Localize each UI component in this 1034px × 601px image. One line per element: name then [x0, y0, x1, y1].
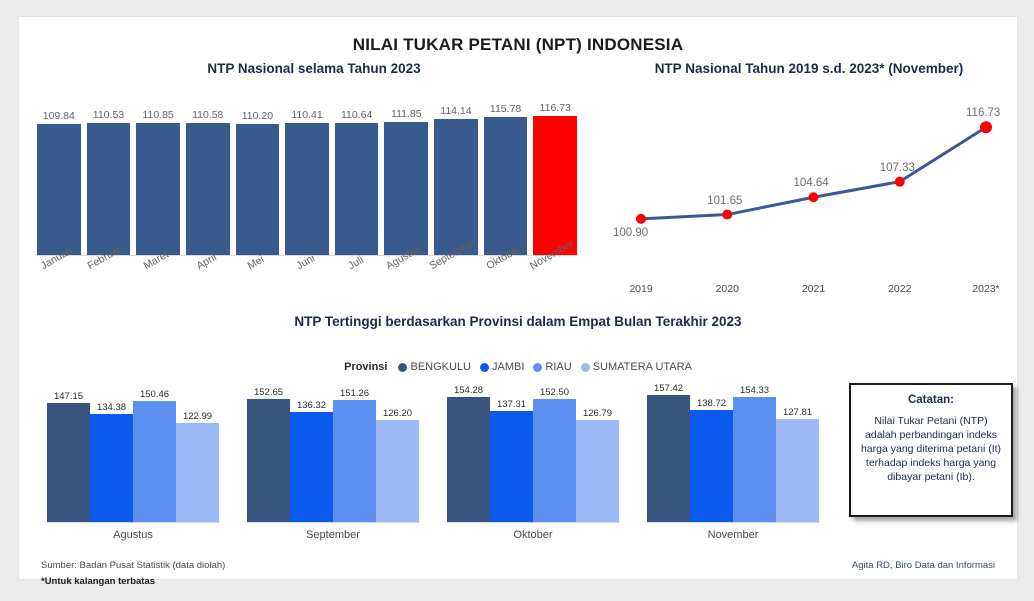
province-bar[interactable]	[290, 412, 333, 523]
line-x-label: 2019	[629, 283, 652, 295]
province-baseline	[47, 522, 219, 523]
line-data-label: 107.33	[880, 162, 915, 174]
monthly-bar[interactable]	[285, 123, 329, 255]
province-bar-column[interactable]: 137.31	[490, 383, 533, 523]
province-bar-column[interactable]: 152.50	[533, 383, 576, 523]
monthly-bar-x-label: Januari	[37, 257, 81, 307]
province-bar[interactable]	[133, 401, 176, 523]
province-x-label: November	[633, 529, 833, 541]
monthly-bar-x-label: Februari	[87, 257, 131, 307]
province-bar-value: 157.42	[654, 383, 683, 394]
monthly-bar-value: 110.53	[93, 109, 124, 121]
legend-title: Provinsi	[344, 361, 387, 373]
monthly-bar-x-label: Juli	[335, 257, 379, 307]
monthly-bar[interactable]	[236, 124, 280, 255]
monthly-bar-column[interactable]: 115.78	[484, 109, 528, 255]
province-bar-value: 154.33	[740, 385, 769, 396]
monthly-bar[interactable]	[186, 123, 230, 255]
note-box: Catatan: Nilai Tukar Petani (NTP) adalah…	[849, 383, 1013, 517]
province-bar-column[interactable]: 127.81	[776, 383, 819, 523]
monthly-bar-column[interactable]: 110.41	[285, 109, 329, 255]
province-baseline	[247, 522, 419, 523]
province-bar-value: 152.65	[254, 387, 283, 398]
province-bar[interactable]	[490, 411, 533, 523]
province-bar-value: 122.99	[183, 411, 212, 422]
chart-title-province-group: NTP Tertinggi berdasarkan Provinsi dalam…	[29, 314, 1007, 329]
province-bar-value: 138.72	[697, 398, 726, 409]
line-x-label: 2023*	[972, 283, 999, 295]
chart-title-yearly-line: NTP Nasional Tahun 2019 s.d. 2023* (Nove…	[609, 61, 1009, 76]
monthly-bar-x-label: Juni	[285, 257, 329, 307]
content-card: NILAI TUKAR PETANI (NPT) INDONESIA NTP N…	[18, 16, 1018, 580]
monthly-bar-x-label: Maret	[136, 257, 180, 307]
monthly-bar[interactable]	[335, 123, 379, 255]
line-data-point[interactable]	[636, 214, 646, 224]
monthly-bar[interactable]	[384, 122, 428, 255]
monthly-bar[interactable]	[37, 124, 81, 255]
province-bar-value: 136.32	[297, 400, 326, 411]
province-bar[interactable]	[176, 423, 219, 523]
monthly-bar-x-label-text: Mei	[246, 253, 267, 272]
province-bar-value: 152.50	[540, 387, 569, 398]
province-grouped-bar-chart: 147.15134.38150.46122.99Agustus152.65136…	[33, 383, 833, 553]
line-data-point[interactable]	[722, 210, 732, 220]
legend-dot-icon	[581, 363, 590, 372]
province-bar[interactable]	[776, 419, 819, 523]
monthly-bar-value: 110.64	[341, 109, 372, 121]
province-bar[interactable]	[247, 399, 290, 523]
province-bar[interactable]	[647, 395, 690, 523]
monthly-bar-value: 115.78	[490, 103, 521, 115]
province-bars: 157.42138.72154.33127.81	[647, 383, 819, 523]
province-bar-group: 154.28137.31152.50126.79Oktober	[433, 383, 633, 523]
province-bar[interactable]	[690, 410, 733, 523]
yearly-line-chart: 100.902019101.652020104.642021107.332022…	[611, 87, 1011, 309]
legend-item-riau[interactable]: RIAU	[533, 361, 571, 373]
line-data-label: 100.90	[613, 227, 648, 239]
legend-item-jambi[interactable]: JAMBI	[480, 361, 524, 373]
province-bar-group: 157.42138.72154.33127.81November	[633, 383, 833, 523]
legend-items: BENGKULUJAMBIRIAUSUMATERA UTARA	[398, 361, 691, 373]
monthly-bar-column[interactable]: 116.73	[533, 109, 577, 255]
line-data-label: 116.73	[966, 107, 1000, 119]
province-bar[interactable]	[90, 414, 133, 523]
province-bar[interactable]	[333, 400, 376, 523]
province-bar-column[interactable]: 138.72	[690, 383, 733, 523]
province-bar-column[interactable]: 154.28	[447, 383, 490, 523]
province-legend: Provinsi BENGKULUJAMBIRIAUSUMATERA UTARA	[29, 361, 1007, 373]
monthly-bar-x-labels: JanuariFebruariMaretAprilMeiJuniJuliAgus…	[37, 257, 577, 307]
line-series-path	[641, 127, 986, 219]
province-bar-column[interactable]: 151.26	[333, 383, 376, 523]
province-bar-column[interactable]: 136.32	[290, 383, 333, 523]
monthly-bar-value: 110.85	[142, 109, 173, 121]
province-bar-column[interactable]: 134.38	[90, 383, 133, 523]
province-bar-value: 137.31	[497, 399, 526, 410]
monthly-bar-x-label-text: Juli	[346, 254, 366, 272]
province-bar-column[interactable]: 147.15	[47, 383, 90, 523]
infographic-canvas: NILAI TUKAR PETANI (NPT) INDONESIA NTP N…	[0, 0, 1034, 601]
monthly-bar[interactable]	[87, 123, 131, 255]
monthly-bar-value: 114.14	[440, 105, 471, 117]
province-x-label: September	[233, 529, 433, 541]
legend-item-label: SUMATERA UTARA	[593, 361, 692, 373]
monthly-bar-column[interactable]: 111.85	[384, 109, 428, 255]
province-group-plot: 147.15134.38150.46122.99Agustus152.65136…	[33, 383, 833, 523]
monthly-bar-column[interactable]: 110.85	[136, 109, 180, 255]
monthly-bar[interactable]	[484, 117, 528, 255]
province-baseline	[447, 522, 619, 523]
province-bar-group: 147.15134.38150.46122.99Agustus	[33, 383, 233, 523]
monthly-bar-x-label: Mei	[236, 257, 280, 307]
province-bar-column[interactable]: 126.79	[576, 383, 619, 523]
province-bar-value: 154.28	[454, 385, 483, 396]
chart-title-monthly-bar: NTP Nasional selama Tahun 2023	[29, 61, 599, 76]
province-bar-column[interactable]: 157.42	[647, 383, 690, 523]
monthly-bar-x-label: November	[533, 257, 577, 307]
monthly-bar-value: 110.58	[192, 109, 223, 121]
note-body: Nilai Tukar Petani (NTP) adalah perbandi…	[859, 415, 1003, 485]
restriction-text: *Untuk kalangan terbatas	[41, 576, 155, 587]
province-bar-group: 152.65136.32151.26126.20September	[233, 383, 433, 523]
province-bar-value: 127.81	[783, 407, 812, 418]
legend-item-bengkulu[interactable]: BENGKULU	[398, 361, 471, 373]
line-data-label: 101.65	[707, 195, 742, 207]
line-data-point[interactable]	[809, 192, 819, 202]
legend-item-label: RIAU	[545, 361, 571, 373]
monthly-bar-value: 111.85	[391, 108, 422, 120]
monthly-bar-value: 116.73	[540, 102, 571, 114]
province-bar[interactable]	[447, 397, 490, 523]
credit-text: Agita RD, Biro Data dan Informasi	[852, 560, 995, 571]
monthly-bar[interactable]	[533, 116, 577, 255]
legend-item-label: JAMBI	[492, 361, 524, 373]
monthly-bar-plot: 109.84110.53110.85110.58110.20110.41110.…	[37, 109, 577, 255]
province-bar-value: 126.20	[383, 408, 412, 419]
line-data-point[interactable]	[980, 121, 992, 133]
province-bar-column[interactable]: 126.20	[376, 383, 419, 523]
province-bar-value: 151.26	[340, 388, 369, 399]
monthly-bar-column[interactable]: 110.64	[335, 109, 379, 255]
monthly-bar-value: 110.20	[242, 110, 273, 122]
province-bars: 154.28137.31152.50126.79	[447, 383, 619, 523]
province-bar-column[interactable]: 152.65	[247, 383, 290, 523]
line-data-point[interactable]	[895, 177, 905, 187]
monthly-bar-value: 109.84	[43, 110, 75, 122]
province-bar-value: 147.15	[54, 391, 83, 402]
note-title: Catatan:	[859, 394, 1003, 406]
legend-dot-icon	[480, 363, 489, 372]
legend-item-sumatera-utara[interactable]: SUMATERA UTARA	[581, 361, 692, 373]
line-x-label: 2022	[888, 283, 911, 295]
line-x-label: 2020	[716, 283, 739, 295]
monthly-bar-x-label: Oktober	[484, 257, 528, 307]
monthly-bar-column[interactable]: 109.84	[37, 109, 81, 255]
province-bar-column[interactable]: 154.33	[733, 383, 776, 523]
line-x-label: 2021	[802, 283, 825, 295]
province-x-label: Agustus	[33, 529, 233, 541]
province-bar-value: 126.79	[583, 408, 612, 419]
province-bars: 147.15134.38150.46122.99	[47, 383, 219, 523]
province-x-label: Oktober	[433, 529, 633, 541]
monthly-bar-x-label: Agustus	[384, 257, 428, 307]
line-data-label: 104.64	[794, 177, 829, 189]
province-bar[interactable]	[576, 420, 619, 523]
monthly-bar-chart: 109.84110.53110.85110.58110.20110.41110.…	[21, 87, 591, 287]
source-text: Sumber: Badan Pusat Statistik (data diol…	[41, 560, 225, 571]
province-bar-column[interactable]: 122.99	[176, 383, 219, 523]
province-baseline	[647, 522, 819, 523]
province-bar[interactable]	[376, 420, 419, 523]
monthly-bar-column[interactable]: 114.14	[434, 109, 478, 255]
monthly-bar-column[interactable]: 110.53	[87, 109, 131, 255]
legend-dot-icon	[398, 363, 407, 372]
monthly-bar-value: 110.41	[291, 109, 322, 121]
monthly-bar[interactable]	[434, 119, 478, 255]
monthly-bar-x-label: April	[186, 257, 230, 307]
province-bar[interactable]	[733, 397, 776, 523]
legend-dot-icon	[533, 363, 542, 372]
monthly-bar-column[interactable]: 110.20	[236, 109, 280, 255]
province-bar[interactable]	[533, 399, 576, 523]
province-bar-column[interactable]: 150.46	[133, 383, 176, 523]
province-bar-value: 134.38	[97, 402, 126, 413]
page-title: NILAI TUKAR PETANI (NPT) INDONESIA	[19, 35, 1017, 55]
legend-item-label: BENGKULU	[410, 361, 471, 373]
monthly-bar-column[interactable]: 110.58	[186, 109, 230, 255]
monthly-bar-x-label: September	[434, 257, 478, 307]
province-bar[interactable]	[47, 403, 90, 523]
province-bars: 152.65136.32151.26126.20	[247, 383, 419, 523]
province-bar-value: 150.46	[140, 389, 169, 400]
monthly-bar[interactable]	[136, 123, 180, 255]
